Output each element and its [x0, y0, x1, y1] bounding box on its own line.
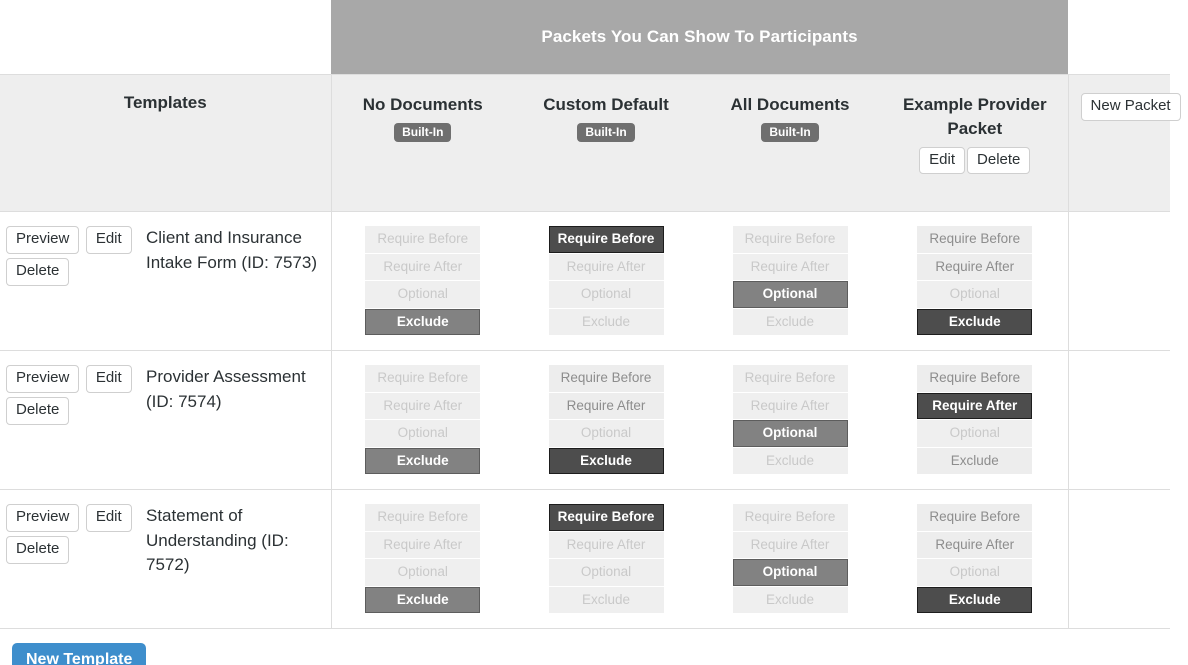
- template-delete-button[interactable]: Delete: [6, 258, 69, 286]
- template-actions-line-1: Preview Edit: [6, 226, 134, 254]
- packet-name-label: Custom Default: [520, 93, 692, 117]
- option-require-after[interactable]: Require After: [917, 393, 1032, 420]
- packet-name-label: No Documents: [338, 93, 509, 117]
- template-delete-button[interactable]: Delete: [6, 397, 69, 425]
- option-cell: Require Before Require After Optional Ex…: [698, 351, 882, 490]
- banner-row: Packets You Can Show To Participants: [0, 0, 1170, 75]
- option-exclude[interactable]: Exclude: [365, 309, 480, 336]
- option-exclude[interactable]: Exclude: [365, 587, 480, 614]
- option-require-after[interactable]: Require After: [549, 393, 664, 420]
- packets-templates-page: Packets You Can Show To Participants Tem…: [0, 0, 1188, 665]
- option-require-before[interactable]: Require Before: [733, 504, 848, 531]
- option-exclude[interactable]: Exclude: [917, 309, 1032, 336]
- option-require-before[interactable]: Require Before: [733, 226, 848, 253]
- templates-column-header: Templates: [0, 75, 331, 212]
- option-optional[interactable]: Optional: [733, 559, 848, 586]
- option-optional[interactable]: Optional: [549, 420, 664, 447]
- table-row: Preview Edit Delete Client and Insurance…: [0, 212, 1170, 351]
- option-cell: Require Before Require After Optional Ex…: [331, 490, 514, 629]
- option-stack: Require Before Require After Optional Ex…: [733, 226, 848, 336]
- option-cell: Require Before Require After Optional Ex…: [882, 212, 1068, 351]
- option-exclude[interactable]: Exclude: [365, 448, 480, 475]
- option-require-before[interactable]: Require Before: [549, 365, 664, 392]
- option-stack: Require Before Require After Optional Ex…: [917, 226, 1032, 336]
- packets-templates-table: Packets You Can Show To Participants Tem…: [0, 0, 1170, 629]
- packets-banner-title: Packets You Can Show To Participants: [331, 0, 1068, 75]
- option-optional[interactable]: Optional: [917, 420, 1032, 447]
- option-cell: Require Before Require After Optional Ex…: [882, 490, 1068, 629]
- option-require-before[interactable]: Require Before: [549, 504, 664, 531]
- option-optional[interactable]: Optional: [917, 281, 1032, 308]
- template-name: Provider Assessment (ID: 7574): [140, 351, 331, 490]
- option-exclude[interactable]: Exclude: [917, 448, 1032, 475]
- builtin-badge: Built-In: [394, 123, 451, 142]
- packet-column-header-example-provider-packet: Example Provider Packet Edit Delete: [882, 75, 1068, 212]
- option-exclude[interactable]: Exclude: [549, 309, 664, 336]
- new-template-button[interactable]: New Template: [12, 643, 146, 665]
- option-cell: Require Before Require After Optional Ex…: [514, 351, 698, 490]
- option-require-after[interactable]: Require After: [917, 254, 1032, 281]
- option-cell: Require Before Require After Optional Ex…: [698, 490, 882, 629]
- packet-column-header-no-documents: No Documents Built-In: [331, 75, 514, 212]
- banner-right-spacer: [1068, 0, 1170, 75]
- option-exclude[interactable]: Exclude: [733, 448, 848, 475]
- option-cell: Require Before Require After Optional Ex…: [331, 351, 514, 490]
- option-optional[interactable]: Optional: [549, 559, 664, 586]
- option-optional[interactable]: Optional: [365, 281, 480, 308]
- option-optional[interactable]: Optional: [733, 420, 848, 447]
- option-require-after[interactable]: Require After: [365, 254, 480, 281]
- option-cell: Require Before Require After Optional Ex…: [331, 212, 514, 351]
- template-name: Statement of Understanding (ID: 7572): [140, 490, 331, 629]
- table-row: Preview Edit Delete Provider Assessment …: [0, 351, 1170, 490]
- option-require-before[interactable]: Require Before: [917, 365, 1032, 392]
- option-optional[interactable]: Optional: [365, 559, 480, 586]
- table-row: Preview Edit Delete Statement of Underst…: [0, 490, 1170, 629]
- option-require-before[interactable]: Require Before: [365, 226, 480, 253]
- template-edit-button[interactable]: Edit: [86, 504, 132, 532]
- option-cell: Require Before Require After Optional Ex…: [514, 212, 698, 351]
- banner-left-spacer: [0, 0, 331, 75]
- option-require-after[interactable]: Require After: [365, 532, 480, 559]
- packet-name-label: All Documents: [704, 93, 876, 117]
- option-require-after[interactable]: Require After: [549, 532, 664, 559]
- template-name: Client and Insurance Intake Form (ID: 75…: [140, 212, 331, 351]
- templates-header-label: Templates: [124, 93, 207, 112]
- option-require-before[interactable]: Require Before: [733, 365, 848, 392]
- option-stack: Require Before Require After Optional Ex…: [549, 504, 664, 614]
- option-require-after[interactable]: Require After: [733, 254, 848, 281]
- option-require-before[interactable]: Require Before: [917, 226, 1032, 253]
- table-header-row: Templates No Documents Built-In Custom D…: [0, 75, 1170, 212]
- option-require-before[interactable]: Require Before: [365, 504, 480, 531]
- option-require-after[interactable]: Require After: [365, 393, 480, 420]
- template-actions-line-1: Preview Edit: [6, 504, 134, 532]
- option-require-before[interactable]: Require Before: [549, 226, 664, 253]
- packet-delete-button[interactable]: Delete: [967, 147, 1030, 175]
- template-actions-cell: Preview Edit Delete: [0, 351, 140, 490]
- option-exclude[interactable]: Exclude: [733, 309, 848, 336]
- template-actions-cell: Preview Edit Delete: [0, 212, 140, 351]
- packet-column-header-custom-default: Custom Default Built-In: [514, 75, 698, 212]
- packet-column-header-all-documents: All Documents Built-In: [698, 75, 882, 212]
- new-packet-button[interactable]: New Packet: [1081, 93, 1181, 121]
- template-preview-button[interactable]: Preview: [6, 504, 79, 532]
- template-actions-cell: Preview Edit Delete: [0, 490, 140, 629]
- option-stack: Require Before Require After Optional Ex…: [365, 365, 480, 475]
- option-exclude[interactable]: Exclude: [917, 587, 1032, 614]
- packet-name-label: Example Provider Packet: [888, 93, 1062, 141]
- option-optional[interactable]: Optional: [917, 559, 1032, 586]
- template-actions-line-2: Delete: [6, 397, 134, 425]
- template-edit-button[interactable]: Edit: [86, 365, 132, 393]
- new-packet-cell: New Packet: [1068, 75, 1170, 212]
- packet-edit-button[interactable]: Edit: [919, 147, 965, 175]
- option-stack: Require Before Require After Optional Ex…: [365, 226, 480, 336]
- option-optional[interactable]: Optional: [549, 281, 664, 308]
- row-tail-cell: [1068, 351, 1170, 490]
- option-require-before[interactable]: Require Before: [917, 504, 1032, 531]
- option-stack: Require Before Require After Optional Ex…: [733, 504, 848, 614]
- option-exclude[interactable]: Exclude: [733, 587, 848, 614]
- template-delete-button[interactable]: Delete: [6, 536, 69, 564]
- option-optional[interactable]: Optional: [733, 281, 848, 308]
- option-stack: Require Before Require After Optional Ex…: [917, 365, 1032, 475]
- option-stack: Require Before Require After Optional Ex…: [733, 365, 848, 475]
- option-stack: Require Before Require After Optional Ex…: [549, 365, 664, 475]
- option-require-before[interactable]: Require Before: [365, 365, 480, 392]
- option-exclude[interactable]: Exclude: [549, 587, 664, 614]
- option-stack: Require Before Require After Optional Ex…: [549, 226, 664, 336]
- row-tail-cell: [1068, 212, 1170, 351]
- option-require-after[interactable]: Require After: [733, 393, 848, 420]
- option-exclude[interactable]: Exclude: [549, 448, 664, 475]
- option-stack: Require Before Require After Optional Ex…: [917, 504, 1032, 614]
- option-require-after[interactable]: Require After: [733, 532, 848, 559]
- packet-header-actions: Edit Delete: [888, 147, 1062, 175]
- builtin-badge: Built-In: [761, 123, 818, 142]
- option-cell: Require Before Require After Optional Ex…: [514, 490, 698, 629]
- template-actions-line-2: Delete: [6, 258, 134, 286]
- template-actions-line-2: Delete: [6, 536, 134, 564]
- template-actions-line-1: Preview Edit: [6, 365, 134, 393]
- builtin-badge: Built-In: [577, 123, 634, 142]
- option-require-after[interactable]: Require After: [917, 532, 1032, 559]
- template-preview-button[interactable]: Preview: [6, 365, 79, 393]
- option-stack: Require Before Require After Optional Ex…: [365, 504, 480, 614]
- template-preview-button[interactable]: Preview: [6, 226, 79, 254]
- option-cell: Require Before Require After Optional Ex…: [882, 351, 1068, 490]
- template-edit-button[interactable]: Edit: [86, 226, 132, 254]
- row-tail-cell: [1068, 490, 1170, 629]
- option-cell: Require Before Require After Optional Ex…: [698, 212, 882, 351]
- option-optional[interactable]: Optional: [365, 420, 480, 447]
- table-footer: New Template: [0, 629, 1188, 665]
- option-require-after[interactable]: Require After: [549, 254, 664, 281]
